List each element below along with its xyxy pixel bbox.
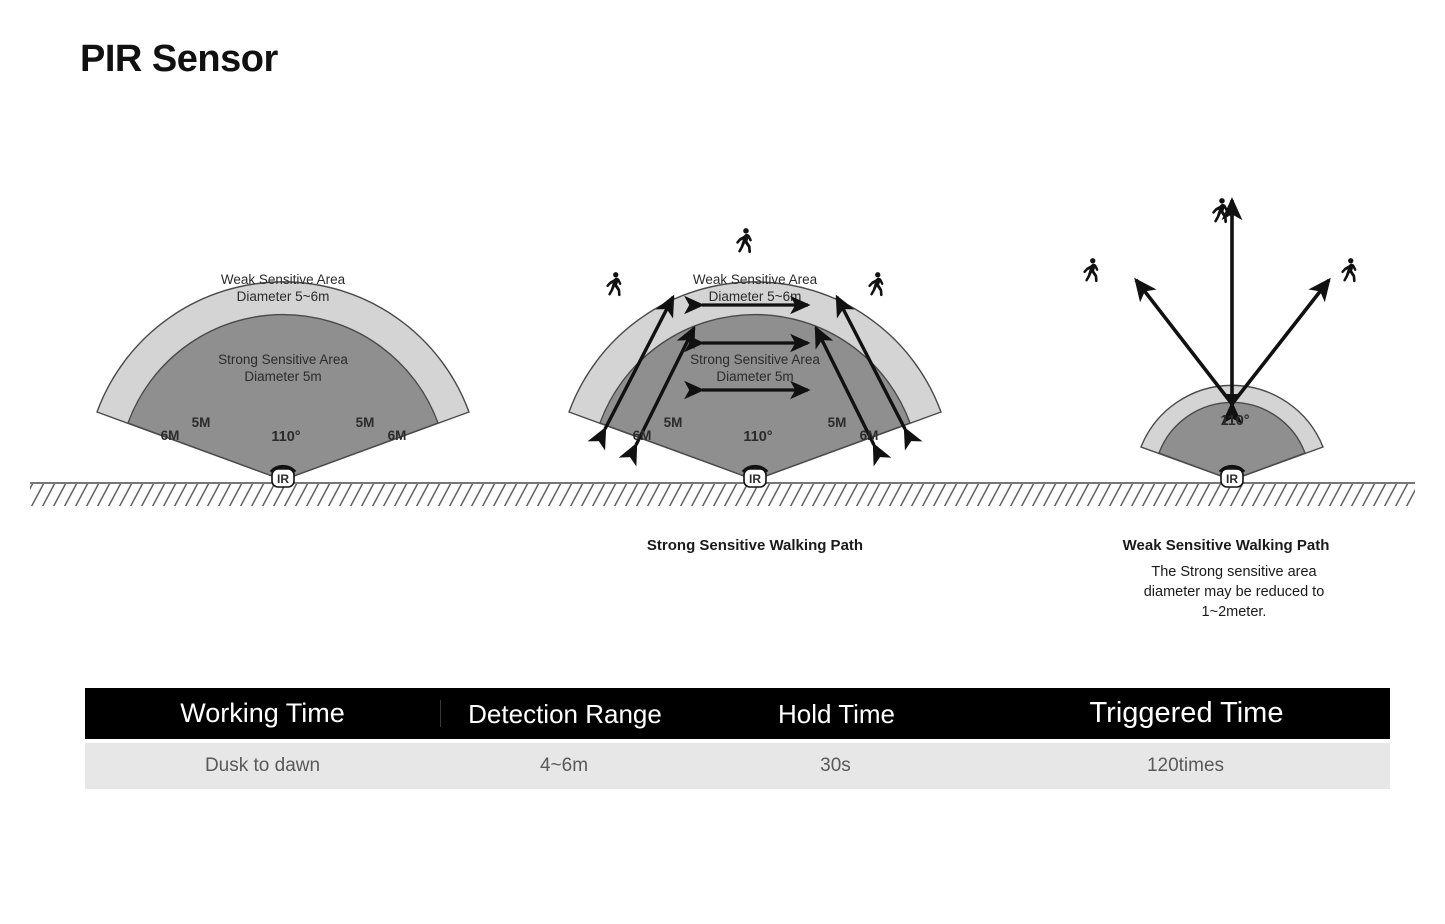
pedestrian-figure-right [1341,258,1356,282]
range-label-inner-left: 5M [192,415,211,430]
diagram-weak-sensitive-walking-path: 110° IR Weak Sensitive Walking Path The … [1083,198,1356,620]
angle-label: 110° [1220,413,1249,429]
weak-area-label-line1: Weak Sensitive Area [221,272,346,287]
cell-detection-range: 4~6m [440,755,688,777]
angle-label: 110° [271,429,300,445]
cell-working-time: Dusk to dawn [85,755,440,777]
diagram-note-line2: diameter may be reduced to [1144,584,1325,600]
pedestrian-figure-top [736,228,752,253]
pedestrian-figure-right [868,272,883,296]
cell-hold-time: 30s [688,755,983,777]
column-header-triggered-time: Triggered Time [984,699,1389,728]
diagram-caption: Weak Sensitive Walking Path [1123,537,1330,554]
diagram-caption: Strong Sensitive Walking Path [647,537,863,554]
ir-sensor-label: IR [277,472,289,486]
range-label-inner-left: 5M [664,415,683,430]
ir-sensor-icon: IR [271,467,295,487]
range-label-inner-right: 5M [828,415,847,430]
ir-sensor-label: IR [1226,472,1238,486]
strong-area-label-line1: Strong Sensitive Area [218,352,348,367]
pedestrian-figure-top [1212,198,1228,223]
ir-sensor-icon: IR [1220,467,1244,487]
pedestrian-figure-left [606,272,621,296]
angle-label: 110° [743,429,772,445]
diagram-note-line3: 1~2meter. [1202,604,1267,620]
cell-triggered-time: 120times [983,755,1388,777]
diagram-note-line1: The Strong sensitive area [1151,564,1317,580]
detection-direction-arrows [1136,200,1329,406]
ir-sensor-label: IR [749,472,761,486]
range-label-inner-right: 5M [356,415,375,430]
ir-sensor-icon: IR [743,467,767,487]
weak-area-label-line1: Weak Sensitive Area [693,272,818,287]
column-header-working-time: Working Time [85,700,441,727]
page-title: PIR Sensor [80,38,278,81]
range-label-outer-left: 6M [161,428,180,443]
column-header-detection-range: Detection Range [441,701,689,727]
table-header-row: Working Time Detection Range Hold Time T… [85,688,1390,739]
strong-area-label-line2: Diameter 5m [244,369,321,384]
weak-area-label-line2: Diameter 5~6m [709,289,802,304]
diagram-canvas: Weak Sensitive Area Diameter 5~6m Strong… [0,150,1445,660]
column-header-hold-time: Hold Time [689,701,984,727]
strong-area-label-line2: Diameter 5m [716,369,793,384]
strong-area-label-line1: Strong Sensitive Area [690,352,820,367]
pir-coverage-diagrams: Weak Sensitive Area Diameter 5~6m Strong… [0,150,1445,660]
ground-line [30,483,1415,506]
pedestrian-figure-left [1083,258,1098,282]
weak-area-label-line2: Diameter 5~6m [237,289,330,304]
range-label-outer-right: 6M [860,428,879,443]
spec-table: Working Time Detection Range Hold Time T… [85,688,1390,789]
range-label-outer-right: 6M [388,428,407,443]
table-row: Dusk to dawn 4~6m 30s 120times [85,743,1390,789]
range-label-outer-left: 6M [633,428,652,443]
diagram-coverage-overview: Weak Sensitive Area Diameter 5~6m Strong… [97,272,469,487]
